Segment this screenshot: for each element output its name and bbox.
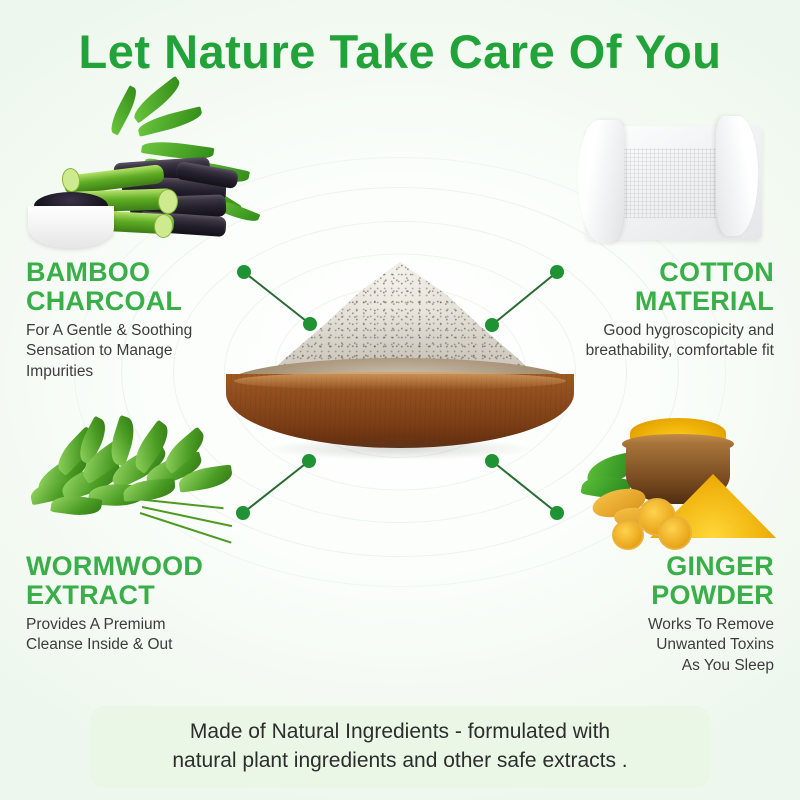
- connector-bottom-right-line: [492, 461, 557, 513]
- feature-wormwood-extract: WORMWOOD EXTRACT Provides A Premium Clea…: [26, 552, 281, 656]
- page-title: Let Nature Take Care Of You: [0, 24, 800, 79]
- feature-desc-bamboo-charcoal: For A Gentle & Soothing Sensation to Man…: [26, 321, 276, 383]
- feature-desc-wormwood-extract: Provides A Premium Cleanse Inside & Out: [26, 615, 281, 656]
- feature-heading-cotton-material: COTTON MATERIAL: [514, 258, 774, 316]
- bottom-banner: Made of Natural Ingredients - formulated…: [90, 706, 710, 788]
- wormwood-extract-image: [24, 410, 254, 550]
- connector-bottom-right-outer-dot: [550, 506, 564, 520]
- feature-heading-wormwood-extract: WORMWOOD EXTRACT: [26, 552, 281, 610]
- feature-desc-cotton-material: Good hygroscopicity and breathability, c…: [514, 321, 774, 362]
- promo-infographic: Let Nature Take Care Of You: [0, 0, 800, 800]
- feature-heading-bamboo-charcoal: BAMBOO CHARCOAL: [26, 258, 276, 316]
- bottom-banner-text: Made of Natural Ingredients - formulated…: [172, 718, 627, 776]
- feature-ginger-powder: GINGER POWDER Works To Remove Unwanted T…: [524, 552, 774, 677]
- cotton-material-image: [574, 112, 774, 252]
- ginger-powder-image: [586, 412, 782, 552]
- feature-desc-ginger-powder: Works To Remove Unwanted Toxins As You S…: [524, 615, 774, 677]
- feature-cotton-material: COTTON MATERIAL Good hygroscopicity and …: [514, 258, 774, 362]
- bamboo-charcoal-image: [26, 108, 266, 258]
- feature-heading-ginger-powder: GINGER POWDER: [524, 552, 774, 610]
- feature-bamboo-charcoal: BAMBOO CHARCOAL For A Gentle & Soothing …: [26, 258, 276, 383]
